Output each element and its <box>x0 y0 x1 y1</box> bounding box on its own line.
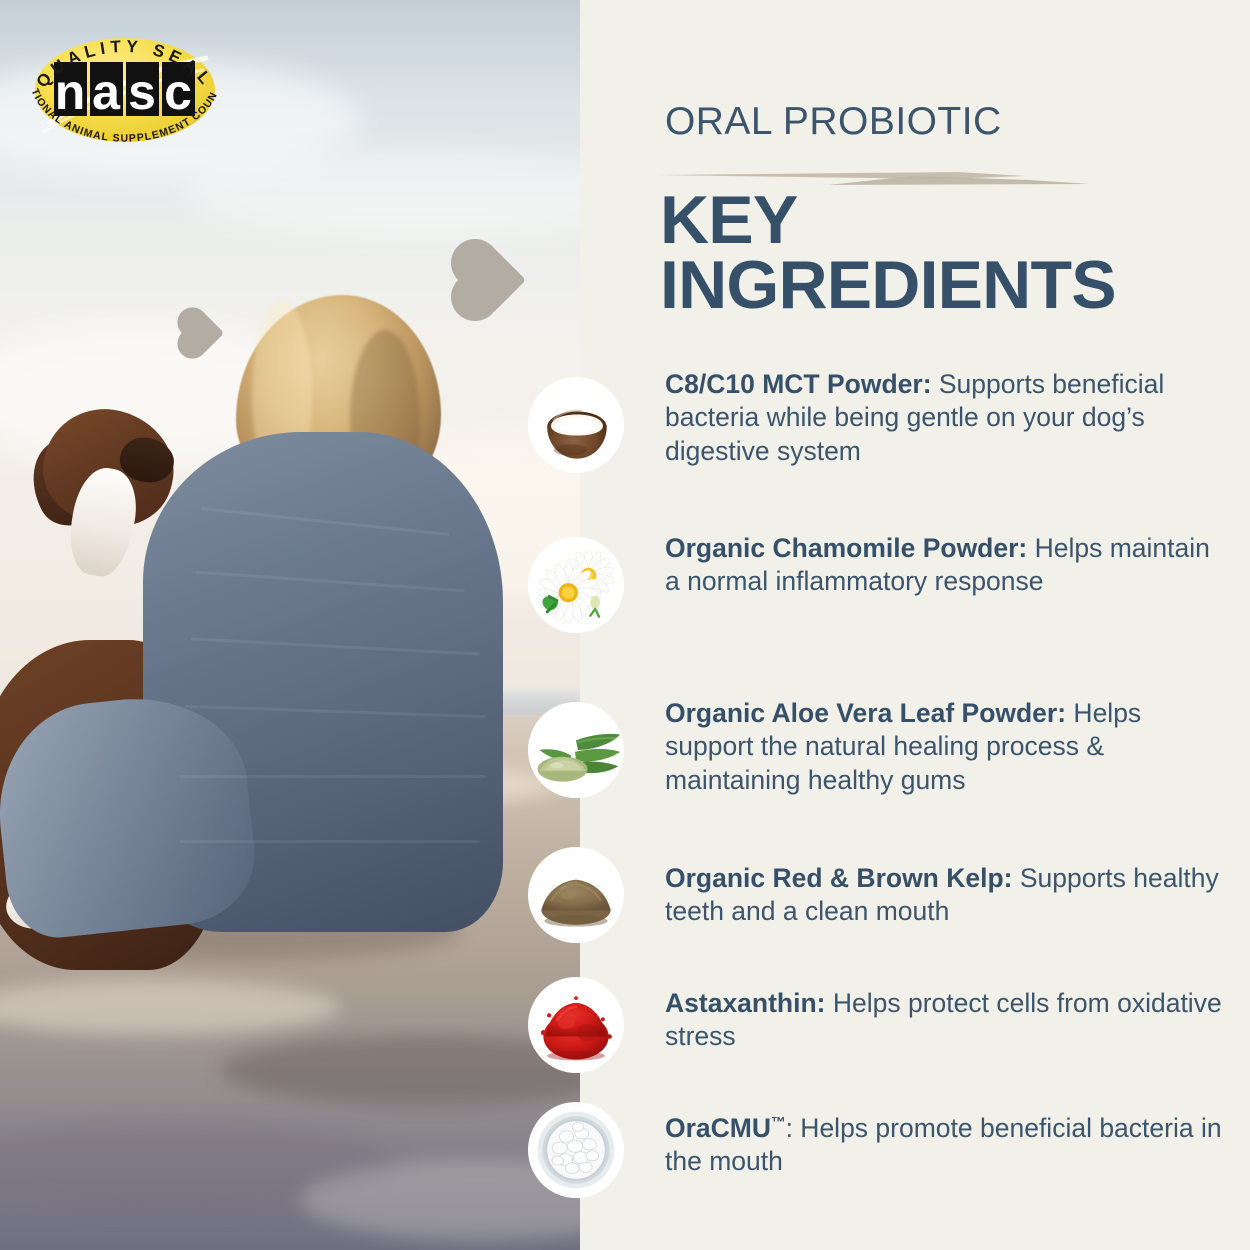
ingredient-item: Organic Aloe Vera Leaf Powder: Helps sup… <box>665 697 1225 797</box>
oracmu-tablets-icon <box>528 1102 624 1198</box>
ingredient-item: OraCMU™: Helps promote beneficial bacter… <box>665 1112 1225 1179</box>
coconut-icon <box>528 377 624 473</box>
ingredient-name: Organic Aloe Vera Leaf Powder: <box>665 698 1066 728</box>
trademark-symbol: ™ <box>771 1115 786 1131</box>
lifestyle-photo: n a s c QUALITY SEAL NATIONAL ANIMAL SUP… <box>0 0 580 1250</box>
knit-texture <box>180 775 485 778</box>
chamomile-flower-icon <box>528 537 624 633</box>
astaxanthin-powder-icon-art <box>528 977 624 1073</box>
aloe-vera-icon <box>528 702 624 798</box>
ingredient-name: Organic Red & Brown Kelp: <box>665 863 1012 893</box>
ingredient-item: Organic Chamomile Powder: Helps maintain… <box>665 532 1225 599</box>
ingredient-item: Organic Red & Brown Kelp: Supports healt… <box>665 862 1225 929</box>
ingredient-name: OraCMU <box>665 1113 771 1143</box>
chamomile-flower-icon-art <box>528 537 624 633</box>
ingredient-name: C8/C10 MCT Powder: <box>665 369 932 399</box>
kelp-powder-icon-art <box>528 847 624 943</box>
product-infographic: n a s c QUALITY SEAL NATIONAL ANIMAL SUP… <box>0 0 1250 1250</box>
ingredient-item: Astaxanthin: Helps protect cells from ox… <box>665 987 1225 1054</box>
knit-texture <box>180 840 480 843</box>
svg-text:s: s <box>128 64 156 120</box>
kelp-powder-icon <box>528 847 624 943</box>
ingredient-name: Astaxanthin: <box>665 988 826 1018</box>
ingredient-list: C8/C10 MCT Powder: Supports beneficial b… <box>580 0 1250 1250</box>
ingredient-name: Organic Chamomile Powder: <box>665 533 1027 563</box>
svg-text:a: a <box>92 64 121 120</box>
coconut-icon-art <box>528 377 624 473</box>
aloe-vera-icon-art <box>528 702 624 798</box>
oracmu-tablets-icon-art <box>528 1102 624 1198</box>
nasc-quality-seal-logo: n a s c QUALITY SEAL NATIONAL ANIMAL SUP… <box>18 14 232 166</box>
ingredient-item: C8/C10 MCT Powder: Supports beneficial b… <box>665 368 1225 468</box>
content-panel: ORAL PROBIOTIC KEY INGREDIENTS C8/C10 MC… <box>580 0 1250 1250</box>
astaxanthin-powder-icon <box>528 977 624 1073</box>
